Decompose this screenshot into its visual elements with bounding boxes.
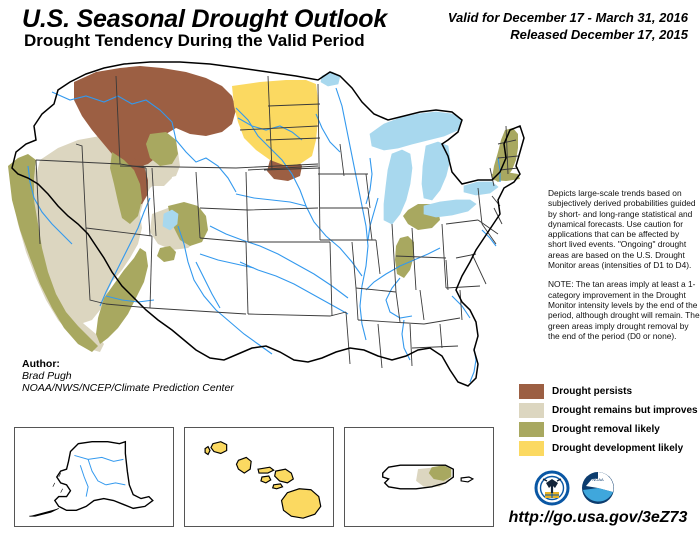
alaska-outline xyxy=(55,442,153,511)
author-name: Brad Pugh xyxy=(22,370,234,382)
inset-map-alaska xyxy=(14,427,174,527)
island-kauai xyxy=(211,442,227,454)
island-oahu xyxy=(236,457,251,473)
legend-swatch-improves xyxy=(519,403,544,418)
legend-swatch-removal xyxy=(519,422,544,437)
author-organization: NOAA/NWS/NCEP/Climate Prediction Center xyxy=(22,382,234,394)
noaa-logo-icon: NOAA xyxy=(580,470,616,506)
agency-logos: NOAA xyxy=(534,470,624,506)
page-title: U.S. Seasonal Drought Outlook xyxy=(22,5,387,34)
island-hawaii xyxy=(282,489,321,518)
author-label: Author: xyxy=(22,358,234,370)
island-maui xyxy=(275,469,294,483)
legend-swatch-persists xyxy=(519,384,544,399)
svg-text:NOAA: NOAA xyxy=(592,477,604,482)
legend-label-development: Drought development likely xyxy=(552,443,683,454)
legend-item-development: Drought development likely xyxy=(519,440,699,457)
legend-label-removal: Drought removal likely xyxy=(552,424,660,435)
legend-item-removal: Drought removal likely xyxy=(519,421,699,438)
valid-period-text: Valid for December 17 - March 31, 2016 xyxy=(448,10,688,25)
island-molokai xyxy=(258,467,274,473)
legend-swatch-development xyxy=(519,441,544,456)
legend-item-persists: Drought persists xyxy=(519,383,699,400)
legend-item-improves: Drought remains but improves xyxy=(519,402,699,419)
description-panel: Depicts large-scale trends based on subj… xyxy=(548,188,700,341)
description-paragraph-1: Depicts large-scale trends based on subj… xyxy=(548,188,700,270)
drought-outlook-page: U.S. Seasonal Drought Outlook Drought Te… xyxy=(0,0,700,540)
outlook-url[interactable]: http://go.usa.gov/3eZ73 xyxy=(498,509,698,527)
author-block: Author: Brad Pugh NOAA/NWS/NCEP/Climate … xyxy=(22,358,234,394)
nws-logo-icon xyxy=(534,470,570,506)
page-header: U.S. Seasonal Drought Outlook Drought Te… xyxy=(0,0,700,52)
alaska-aleutians xyxy=(29,508,58,516)
vieques-island xyxy=(461,477,473,482)
island-lanai xyxy=(261,476,271,483)
legend: Drought persists Drought remains but imp… xyxy=(519,383,699,459)
legend-label-improves: Drought remains but improves xyxy=(552,405,698,416)
island-niihau xyxy=(205,447,210,455)
inset-map-hawaii xyxy=(184,427,334,527)
description-paragraph-2: NOTE: The tan areas imply at least a 1-c… xyxy=(548,279,700,341)
hawaii-islands xyxy=(205,442,321,518)
released-date-text: Released December 17, 2015 xyxy=(510,27,688,42)
inset-map-puerto-rico xyxy=(344,427,494,527)
alaska-rivers xyxy=(74,455,125,496)
island-kahoolawe xyxy=(273,484,283,489)
legend-label-persists: Drought persists xyxy=(552,386,632,397)
